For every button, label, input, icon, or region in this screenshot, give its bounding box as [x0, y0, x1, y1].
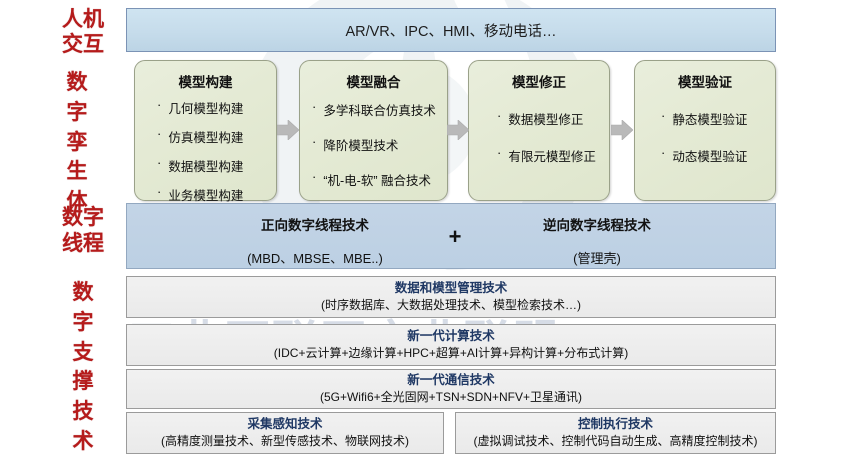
- support-row-title: 控制执行技术: [578, 417, 653, 433]
- arrow-right-icon: [447, 120, 469, 140]
- list-item-label: 数据模型修正: [508, 109, 583, 128]
- rail-label-human-machine-interaction: 人机交互: [44, 8, 122, 58]
- stage-title: 模型融合: [300, 71, 447, 91]
- stage-item-list: ·静态模型验证 ·动态模型验证: [635, 109, 775, 165]
- reverse-thread-block: 逆向数字线程技术 (管理壳): [447, 214, 747, 267]
- support-row-data-model-management[interactable]: 数据和模型管理技术 (时序数据库、大数据处理技术、模型检索技术…): [126, 276, 776, 318]
- list-item: ·多学科联合仿真技术: [312, 100, 447, 119]
- bullet-icon: ·: [661, 109, 665, 123]
- bullet-icon: ·: [497, 109, 501, 123]
- list-item-label: 数据模型构建: [168, 156, 243, 175]
- reverse-thread-subtitle: (管理壳): [447, 248, 747, 267]
- bullet-icon: ·: [497, 146, 501, 160]
- support-row-subtitle: (虚拟调试技术、控制代码自动生成、高精度控制技术): [474, 434, 758, 450]
- rail-label-digital-twin: 数字孪生体: [52, 68, 102, 217]
- list-item: ·数据模型修正: [497, 109, 609, 128]
- support-row-title: 新一代计算技术: [407, 329, 495, 345]
- stage-model-construction[interactable]: 模型构建 ·几何模型构建 ·仿真模型构建 ·数据模型构建 ·业务模型构建: [134, 60, 277, 201]
- digital-thread-band: 正向数字线程技术 (MBD、MBSE、MBE..) + 逆向数字线程技术 (管理…: [126, 203, 776, 269]
- support-row-next-gen-computing[interactable]: 新一代计算技术 (IDC+云计算+边缘计算+HPC+超算+AI计算+异构计算+分…: [126, 324, 776, 366]
- list-item-label: 降阶模型技术: [323, 135, 398, 154]
- stage-model-fusion[interactable]: 模型融合 ·多学科联合仿真技术 ·降阶模型技术 ·“机-电-软” 融合技术: [299, 60, 448, 201]
- list-item: ·动态模型验证: [661, 146, 775, 165]
- forward-thread-title: 正向数字线程技术: [165, 214, 465, 234]
- bullet-icon: ·: [661, 146, 665, 160]
- hmi-devices-bar: AR/VR、IPC、HMI、移动电话…: [126, 8, 776, 52]
- list-item: ·降阶模型技术: [312, 135, 447, 154]
- list-item-label: 业务模型构建: [168, 185, 243, 204]
- stage-title: 模型构建: [135, 71, 276, 91]
- support-row-subtitle: (高精度测量技术、新型传感技术、物联网技术): [161, 434, 409, 450]
- stage-item-list: ·多学科联合仿真技术 ·降阶模型技术 ·“机-电-软” 融合技术: [300, 100, 447, 189]
- support-row-subtitle: (时序数据库、大数据处理技术、模型检索技术…): [321, 298, 581, 314]
- list-item: ·有限元模型修正: [497, 146, 609, 165]
- forward-thread-block: 正向数字线程技术 (MBD、MBSE、MBE..): [165, 214, 465, 267]
- bullet-icon: ·: [157, 127, 161, 141]
- list-item-label: 多学科联合仿真技术: [323, 100, 436, 119]
- stage-model-correction[interactable]: 模型修正 ·数据模型修正 ·有限元模型修正: [468, 60, 610, 201]
- bullet-icon: ·: [157, 185, 161, 199]
- hmi-devices-text: AR/VR、IPC、HMI、移动电话…: [345, 20, 556, 41]
- stage-model-validation[interactable]: 模型验证 ·静态模型验证 ·动态模型验证: [634, 60, 776, 201]
- forward-thread-subtitle: (MBD、MBSE、MBE..): [165, 248, 465, 267]
- diagram-root: 工业互联网产业联盟 Alliance of Industrial Interne…: [0, 0, 841, 463]
- stage-item-list: ·数据模型修正 ·有限元模型修正: [469, 109, 609, 165]
- support-row-title: 新一代通信技术: [407, 373, 495, 389]
- list-item-label: 动态模型验证: [672, 146, 747, 165]
- list-item: ·静态模型验证: [661, 109, 775, 128]
- bullet-icon: ·: [157, 98, 161, 112]
- reverse-thread-title: 逆向数字线程技术: [447, 214, 747, 234]
- stage-title: 模型验证: [635, 71, 775, 91]
- support-row-next-gen-communication[interactable]: 新一代通信技术 (5G+Wifi6+全光固网+TSN+SDN+NFV+卫星通讯): [126, 369, 776, 409]
- left-rail: 人机交互 数字孪生体 数字线程 数字支撑技术: [0, 0, 124, 463]
- list-item-label: “机-电-软” 融合技术: [323, 170, 431, 189]
- list-item: ·“机-电-软” 融合技术: [312, 170, 447, 189]
- support-row-subtitle: (5G+Wifi6+全光固网+TSN+SDN+NFV+卫星通讯): [320, 390, 582, 406]
- bullet-icon: ·: [312, 100, 316, 114]
- list-item-label: 有限元模型修正: [508, 146, 596, 165]
- support-row-subtitle: (IDC+云计算+边缘计算+HPC+超算+AI计算+异构计算+分布式计算): [274, 346, 628, 362]
- list-item: ·业务模型构建: [157, 185, 276, 204]
- support-row-control-execution[interactable]: 控制执行技术 (虚拟调试技术、控制代码自动生成、高精度控制技术): [455, 412, 776, 454]
- list-item: ·几何模型构建: [157, 98, 276, 117]
- arrow-right-icon: [611, 120, 633, 140]
- support-row-title: 数据和模型管理技术: [395, 281, 508, 297]
- rail-label-digital-thread: 数字线程: [44, 205, 122, 256]
- list-item-label: 静态模型验证: [672, 109, 747, 128]
- stage-title: 模型修正: [469, 71, 609, 91]
- rail-label-digital-support-tech: 数字支撑技术: [60, 278, 106, 457]
- support-row-sensing-acquisition[interactable]: 采集感知技术 (高精度测量技术、新型传感技术、物联网技术): [126, 412, 444, 454]
- bullet-icon: ·: [312, 170, 316, 184]
- list-item: ·数据模型构建: [157, 156, 276, 175]
- stage-item-list: ·几何模型构建 ·仿真模型构建 ·数据模型构建 ·业务模型构建: [135, 98, 276, 204]
- list-item-label: 仿真模型构建: [168, 127, 243, 146]
- bullet-icon: ·: [157, 156, 161, 170]
- bullet-icon: ·: [312, 135, 316, 149]
- support-row-title: 采集感知技术: [247, 417, 322, 433]
- list-item: ·仿真模型构建: [157, 127, 276, 146]
- list-item-label: 几何模型构建: [168, 98, 243, 117]
- arrow-right-icon: [277, 120, 299, 140]
